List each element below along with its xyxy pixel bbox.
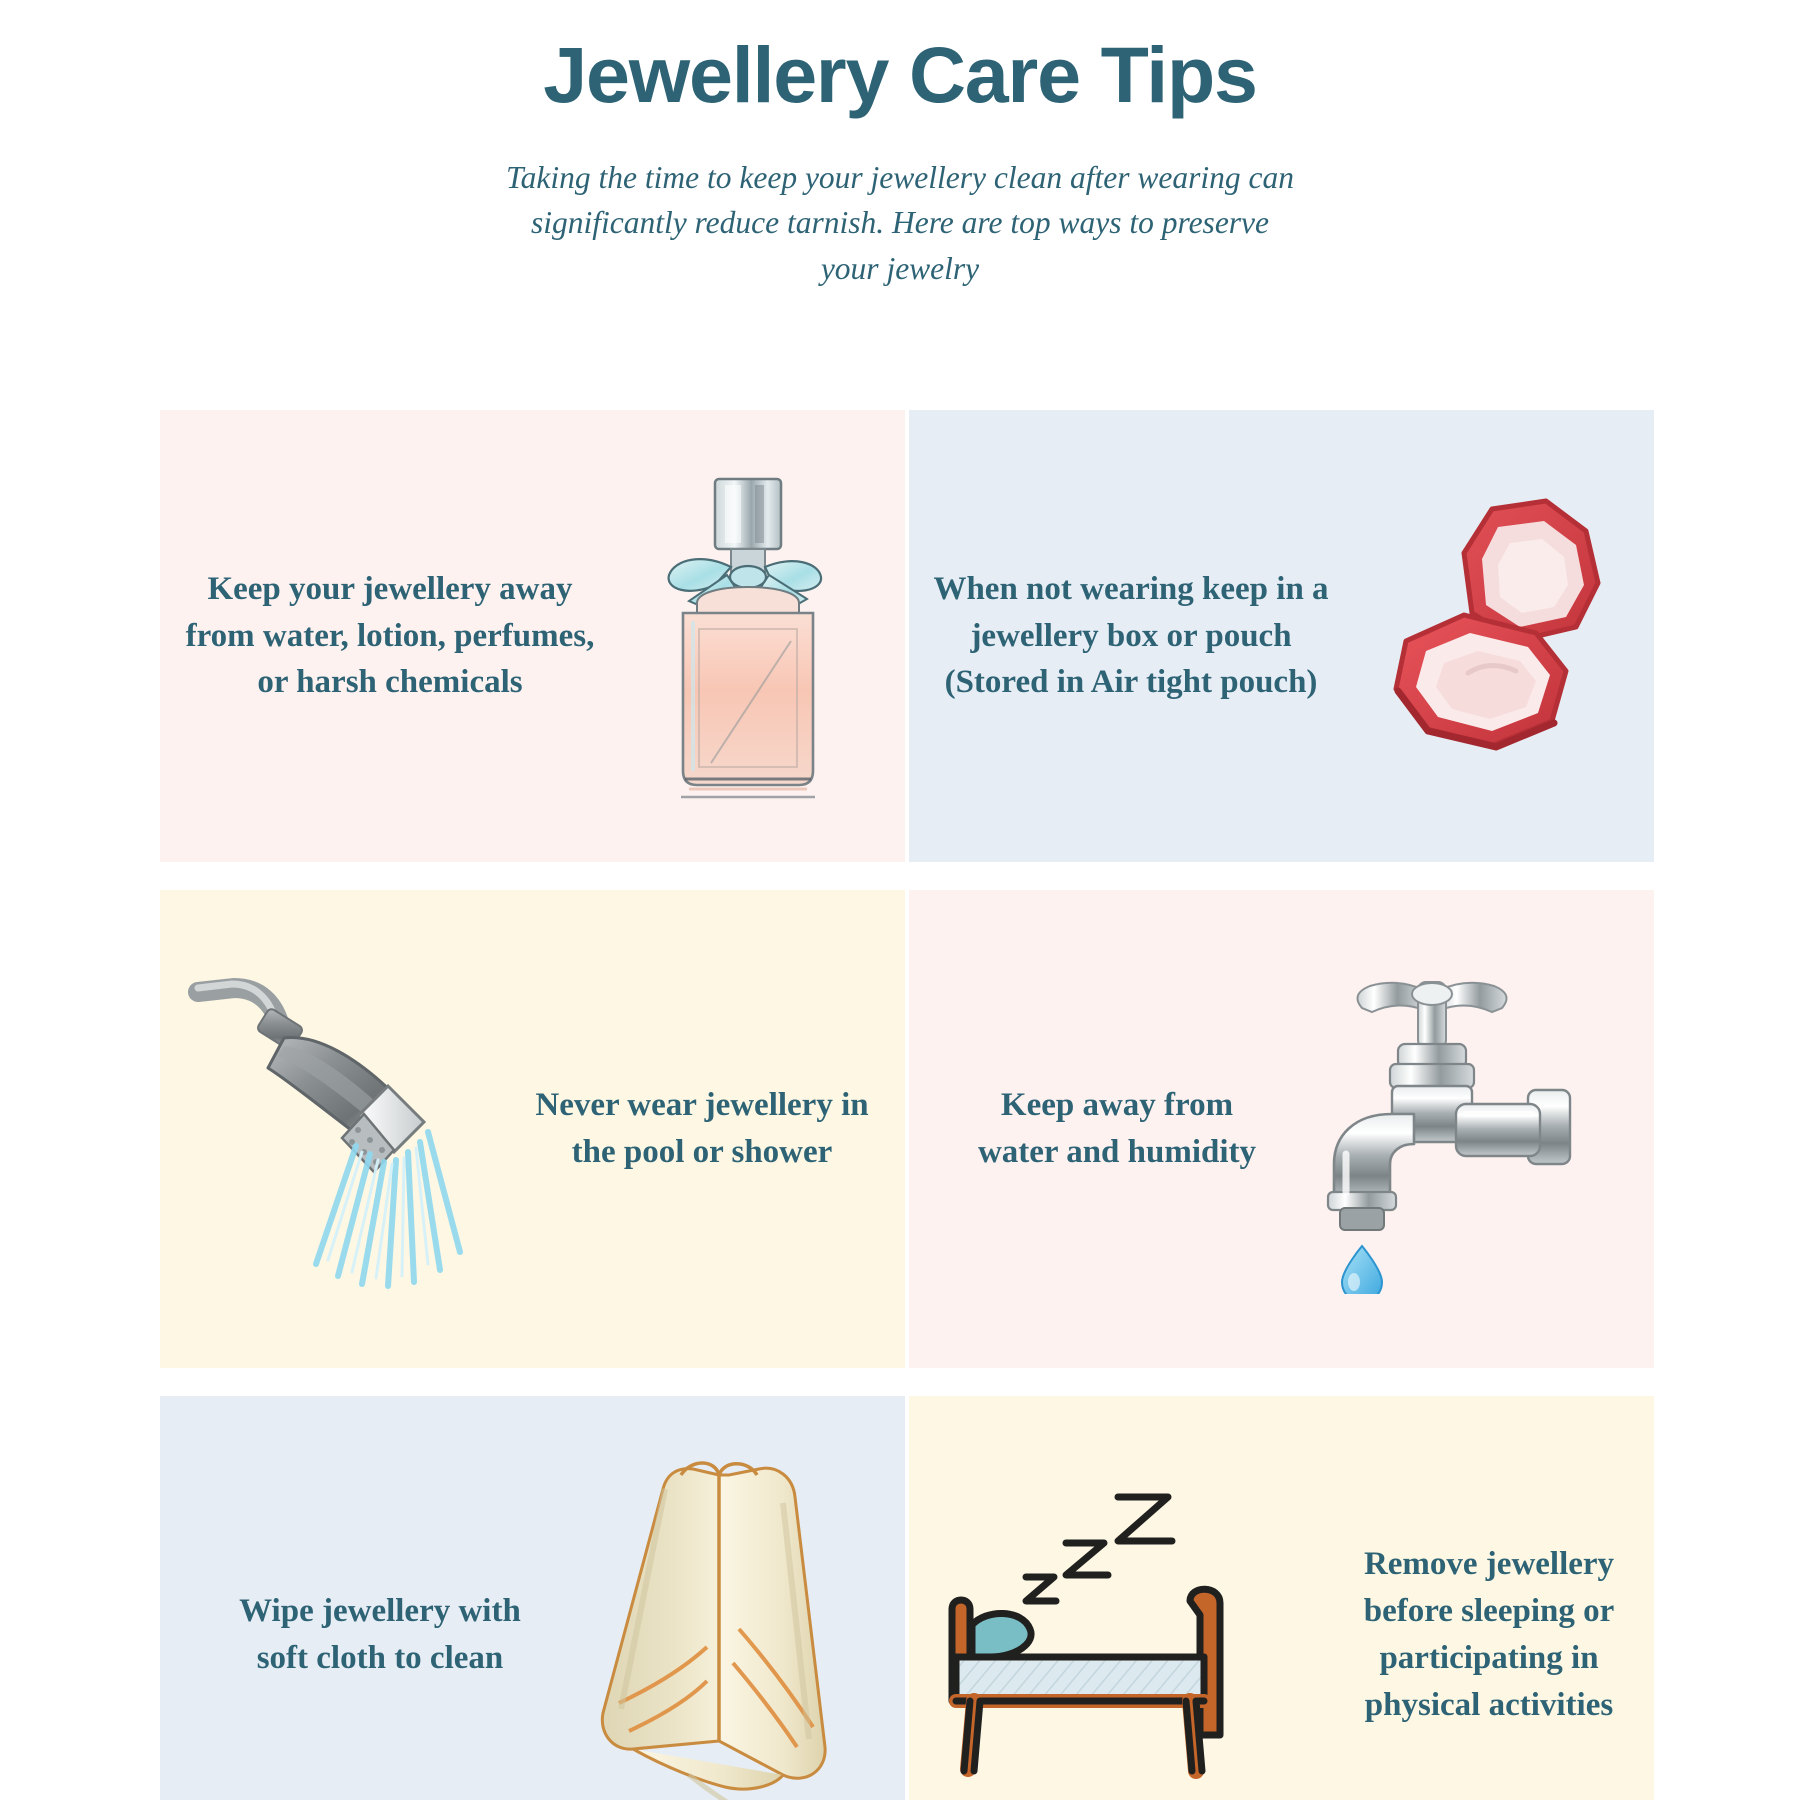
card-water-humidity: Keep away from water and humidity [909,890,1654,1368]
bed-sleeping-icon [938,1485,1268,1785]
card-water-humidity-art [1277,890,1614,1368]
tips-grid: Keep your jewellery away from water, lot… [160,410,1654,1800]
page-subtitle: Taking the time to keep your jewellery c… [500,155,1300,291]
card-sleep-activity-text: Remove jewellery before sleeping or part… [1324,1541,1654,1728]
header: Jewellery Care Tips Taking the time to k… [0,0,1800,291]
faucet-tap-icon [1306,964,1586,1294]
card-water-humidity-text: Keep away from water and humidity [957,1082,1277,1176]
card-storage-art [1331,410,1648,862]
card-pool-shower-art [188,890,527,1368]
card-soft-cloth: Wipe jewellery with soft cloth to clean [160,1396,905,1800]
card-soft-cloth-text: Wipe jewellery with soft cloth to clean [210,1588,550,1682]
card-sleep-activity-art [909,1396,1296,1800]
card-storage: When not wearing keep in a jewellery box… [909,410,1654,862]
card-pool-shower: Never wear jewellery in the pool or show… [160,890,905,1368]
card-sleep-activity: Remove jewellery before sleeping or part… [909,1396,1654,1800]
card-chemicals-art [600,410,895,862]
page-title: Jewellery Care Tips [0,34,1800,117]
shower-head-icon [188,964,478,1294]
infographic-page: Jewellery Care Tips Taking the time to k… [0,0,1800,1800]
card-pool-shower-text: Never wear jewellery in the pool or show… [527,1082,877,1176]
card-chemicals-text: Keep your jewellery away from water, lot… [180,566,600,707]
perfume-bottle-icon [623,471,873,801]
card-soft-cloth-art [550,1396,887,1800]
polishing-cloth-icon [569,1445,869,1800]
jewellery-ring-box-icon [1340,491,1640,781]
card-chemicals: Keep your jewellery away from water, lot… [160,410,905,862]
card-storage-text: When not wearing keep in a jewellery box… [931,566,1331,707]
